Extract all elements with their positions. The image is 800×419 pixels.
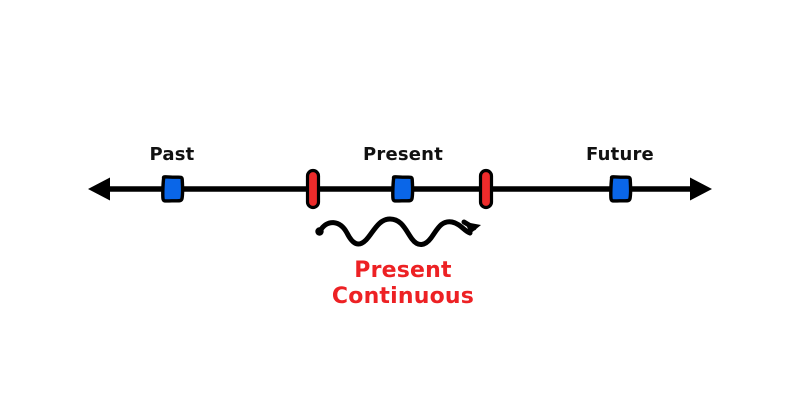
blue-square-shape <box>163 177 183 201</box>
blue-square-shape <box>393 177 413 201</box>
tense-caption: Present Continuous <box>332 258 474 310</box>
timeline-label-future: Future <box>586 146 654 164</box>
timeline-graphic <box>0 0 800 419</box>
blue-square-shape <box>611 177 631 201</box>
present-point-marker <box>393 177 413 201</box>
interval-end-marker <box>481 171 492 208</box>
red-bar-shape <box>308 171 319 208</box>
future-point-marker <box>611 177 631 201</box>
wave-start-dot-icon <box>315 227 323 235</box>
past-point-marker <box>163 177 183 201</box>
wave-arrow-stem <box>464 222 474 228</box>
timeline-diagram: Past Present Future Present Continuous <box>0 0 800 419</box>
red-bar-shape <box>481 171 492 208</box>
timeline-label-present: Present <box>363 146 443 164</box>
axis-arrow-left-icon <box>88 178 110 201</box>
tense-caption-line-1: Present <box>332 258 474 284</box>
interval-start-marker <box>308 171 319 208</box>
tense-caption-line-2: Continuous <box>332 284 474 310</box>
continuous-wave-group <box>315 219 481 245</box>
axis-arrow-right-icon <box>690 178 712 201</box>
timeline-label-past: Past <box>150 146 195 164</box>
wave-path <box>320 219 470 245</box>
